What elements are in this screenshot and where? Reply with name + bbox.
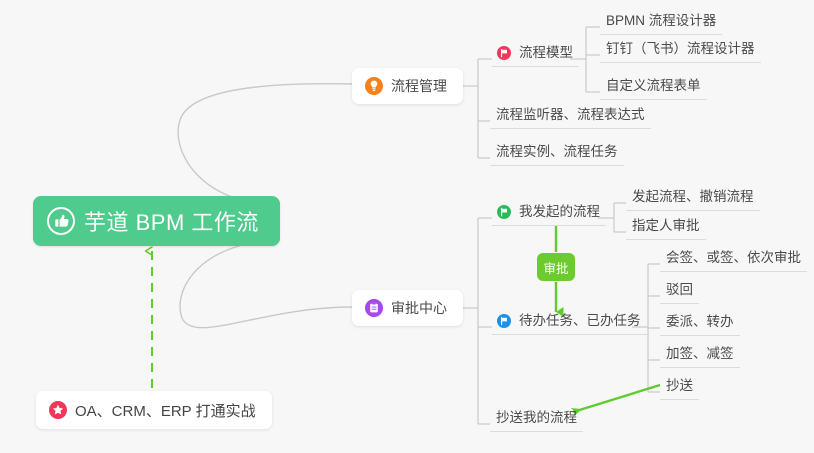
node-listener-expression[interactable]: 流程监听器、流程表达式 — [490, 105, 651, 129]
node-reject[interactable]: 驳回 — [660, 280, 699, 304]
connector-root-to-approval-center — [180, 240, 352, 328]
thumbs-up-icon — [47, 207, 75, 235]
mindmap-canvas: 芋道 BPM 工作流 流程管理 流程模型 BPMN 流程设计器 钉钉（飞书）流程… — [0, 0, 814, 453]
node-bpmn-designer[interactable]: BPMN 流程设计器 — [600, 11, 722, 35]
node-dingtalk-designer[interactable]: 钉钉（飞书）流程设计器 — [600, 39, 761, 63]
node-label: 待办任务、已办任务 — [519, 311, 641, 330]
node-label: 审批中心 — [391, 298, 447, 318]
node-my-initiated-processes[interactable]: 我发起的流程 — [492, 202, 606, 226]
node-integration-practice[interactable]: OA、CRM、ERP 打通实战 — [36, 391, 272, 429]
flag-blue-icon — [497, 314, 511, 328]
node-custom-form[interactable]: 自定义流程表单 — [600, 76, 707, 100]
node-label: 流程模型 — [519, 43, 573, 62]
flag-green-icon — [497, 205, 511, 219]
flag-red-icon — [497, 46, 511, 60]
star-icon — [49, 401, 67, 419]
clipboard-icon — [365, 299, 383, 317]
flow-arrow-cc-to-cc-me — [573, 385, 660, 412]
node-instance-task[interactable]: 流程实例、流程任务 — [490, 142, 624, 166]
lightbulb-icon — [365, 77, 383, 95]
node-todo-done-tasks[interactable]: 待办任务、已办任务 — [492, 311, 647, 335]
root-label: 芋道 BPM 工作流 — [84, 205, 259, 237]
node-cc-to-me-processes[interactable]: 抄送我的流程 — [490, 408, 583, 432]
node-start-cancel-process[interactable]: 发起流程、撤销流程 — [626, 187, 760, 211]
node-assignee-approval[interactable]: 指定人审批 — [626, 216, 706, 240]
node-process-model[interactable]: 流程模型 — [492, 43, 579, 67]
node-approval-center[interactable]: 审批中心 — [352, 290, 463, 326]
node-label: 我发起的流程 — [519, 202, 600, 221]
node-countersign[interactable]: 会签、或签、依次审批 — [660, 248, 807, 272]
connector-root-to-process-management — [178, 84, 352, 205]
approval-badge-label: 审批 — [543, 258, 568, 277]
node-label: OA、CRM、ERP 打通实战 — [75, 400, 256, 421]
node-add-remove-sign[interactable]: 加签、减签 — [660, 344, 740, 368]
approval-badge[interactable]: 审批 — [537, 253, 575, 281]
root-node[interactable]: 芋道 BPM 工作流 — [33, 196, 280, 246]
node-cc[interactable]: 抄送 — [660, 376, 699, 400]
node-process-management[interactable]: 流程管理 — [352, 68, 463, 104]
node-delegate-transfer[interactable]: 委派、转办 — [660, 312, 740, 336]
node-label: 流程管理 — [391, 76, 447, 96]
